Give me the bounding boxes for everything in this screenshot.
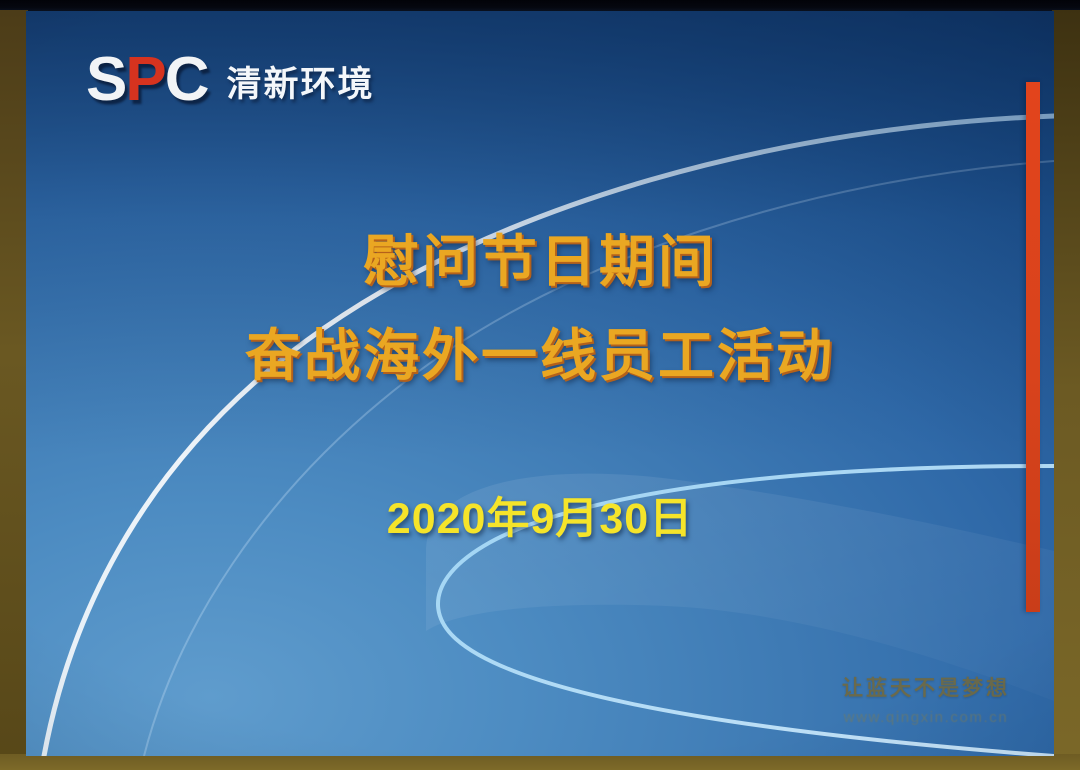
spc-wordmark: SPC (86, 49, 208, 111)
accent-bar-right (1026, 82, 1040, 612)
logo-letter-s: S (86, 45, 125, 114)
slide-footer: 让蓝天不是梦想 www.qingxin.com.cn (842, 676, 1010, 726)
footer-url: www.qingxin.com.cn (842, 709, 1010, 726)
footer-slogan: 让蓝天不是梦想 (842, 676, 1010, 702)
company-name-cn: 清新环境 (227, 67, 375, 102)
projected-slide-photo: SPC 清新环境 慰问节日期间 奋战海外一线员工活动 2020年9月30日 让蓝… (0, 0, 1080, 770)
presentation-slide: SPC 清新环境 慰问节日期间 奋战海外一线员工活动 2020年9月30日 让蓝… (26, 11, 1054, 756)
slide-title: 慰问节日期间 奋战海外一线员工活动 (26, 226, 1054, 391)
decorative-arc-outer (44, 116, 1054, 756)
title-line-2: 奋战海外一线员工活动 (26, 320, 1054, 392)
logo-letter-p: P (125, 45, 164, 114)
photo-left-wall (0, 10, 28, 770)
logo-letter-c: C (165, 45, 208, 114)
brand-logo: SPC 清新环境 (86, 49, 375, 111)
photo-right-wall (1052, 10, 1080, 770)
photo-bottom-wall (0, 754, 1080, 770)
title-line-1: 慰问节日期间 (26, 226, 1054, 298)
slide-date: 2020年9月30日 (26, 484, 1054, 546)
